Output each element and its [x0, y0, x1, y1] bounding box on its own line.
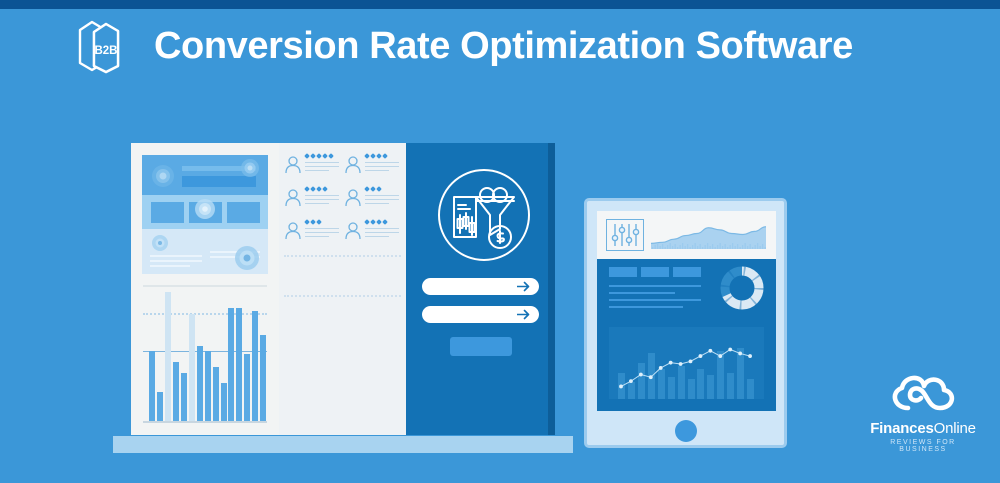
text-line — [609, 299, 701, 301]
text-line — [609, 285, 701, 287]
avatar-icon — [344, 221, 362, 240]
review-item — [284, 186, 343, 211]
dashboard-illustration — [131, 143, 555, 435]
panel-header-block — [142, 155, 268, 195]
bar — [236, 308, 242, 421]
financesonline-tagline: REVIEWS FOR BUSINESS — [868, 439, 978, 453]
dashboard-middle-panel — [279, 143, 406, 435]
card-row — [142, 195, 268, 229]
bar — [260, 335, 266, 421]
divider — [284, 255, 401, 257]
avatar-icon — [344, 155, 362, 174]
text-line — [305, 232, 339, 233]
dashboard-left-panel — [131, 143, 279, 435]
tablet-top-section — [597, 211, 776, 259]
cta-button-1[interactable] — [422, 278, 539, 295]
text-line — [365, 162, 399, 163]
dashboard-right-panel — [406, 143, 555, 435]
chart-dotted-gridline — [143, 313, 267, 315]
bar — [221, 383, 227, 421]
tablet-bottom-section — [597, 259, 776, 411]
banner-canvas: B2B Conversion Rate Optimization Softwar… — [0, 0, 1000, 483]
avatar-icon — [284, 188, 302, 207]
card-1 — [151, 202, 184, 223]
star-icon — [316, 153, 322, 159]
text-line — [365, 228, 399, 229]
trend-line — [621, 349, 750, 386]
arrow-right-icon — [517, 281, 531, 292]
star-icon — [364, 153, 370, 159]
bar — [149, 351, 155, 421]
star-rating — [365, 220, 387, 224]
text-line — [365, 166, 399, 167]
text-line — [365, 236, 389, 237]
text-line — [150, 265, 190, 267]
avatar-icon — [284, 155, 302, 174]
financesonline-name: FinancesOnline — [868, 420, 978, 437]
tablet-screen — [597, 211, 776, 411]
bar — [228, 308, 234, 421]
bar — [157, 392, 163, 421]
star-icon — [322, 153, 328, 159]
star-icon — [310, 153, 316, 159]
text-line — [305, 236, 329, 237]
books-icon: B2B — [72, 16, 134, 76]
secondary-button[interactable] — [450, 337, 512, 356]
chip-1 — [609, 267, 637, 277]
target-ring-icon — [150, 163, 176, 189]
bullet-ring-icon — [151, 234, 169, 252]
bar — [197, 346, 203, 421]
star-icon — [364, 219, 370, 225]
star-icon — [370, 219, 376, 225]
star-rating — [305, 187, 327, 191]
text-line — [365, 203, 389, 204]
financesonline-logo: FinancesOnline REVIEWS FOR BUSINESS — [868, 368, 978, 453]
panel-right-rail — [548, 143, 555, 435]
home-button[interactable] — [675, 420, 697, 442]
text-line — [365, 195, 399, 196]
target-ring-icon-small — [240, 158, 260, 178]
text-line — [365, 232, 399, 233]
star-icon — [370, 153, 376, 159]
left-bar-chart — [143, 285, 267, 423]
star-icon — [310, 219, 316, 225]
chip-2 — [641, 267, 669, 277]
combo-line-series — [609, 327, 764, 399]
star-rating — [365, 187, 381, 191]
logo-b2b-text: B2B — [94, 45, 117, 57]
cloud-infinity-icon — [884, 368, 962, 416]
dashboard-base-stand — [113, 436, 573, 453]
banner-header: B2B Conversion Rate Optimization Softwar… — [72, 16, 853, 76]
star-rating — [365, 154, 387, 158]
star-icon — [304, 186, 310, 192]
star-icon — [322, 186, 328, 192]
target-ring-icon-card — [194, 198, 216, 220]
top-stripe — [0, 0, 1000, 9]
text-line — [150, 255, 202, 257]
text-placeholder-block — [142, 229, 268, 274]
text-line — [305, 162, 339, 163]
star-icon — [304, 219, 310, 225]
tablet-donut-chart — [719, 265, 765, 311]
chart-axis — [143, 421, 267, 423]
star-icon — [382, 153, 388, 159]
bar — [213, 367, 219, 421]
bar — [189, 314, 195, 421]
review-item — [284, 219, 343, 244]
equalizer-sliders-icon — [606, 219, 644, 251]
review-item — [344, 186, 403, 211]
star-icon — [376, 153, 382, 159]
fo-name-bold: Finances — [870, 420, 933, 437]
star-icon — [382, 219, 388, 225]
bar — [173, 362, 179, 421]
star-icon — [310, 186, 316, 192]
text-line — [305, 170, 329, 171]
star-icon — [376, 219, 382, 225]
star-icon — [364, 186, 370, 192]
star-icon — [370, 186, 376, 192]
text-line — [305, 195, 339, 196]
tablet-area-chart — [651, 219, 766, 251]
star-icon — [316, 186, 322, 192]
chip-3 — [673, 267, 701, 277]
text-line — [305, 166, 339, 167]
bar — [252, 311, 258, 421]
bar — [244, 354, 250, 421]
star-icon — [328, 153, 334, 159]
review-item — [344, 219, 403, 244]
avatar-icon — [344, 188, 362, 207]
divider — [284, 295, 401, 297]
cta-button-2[interactable] — [422, 306, 539, 323]
star-icon — [304, 153, 310, 159]
star-icon — [376, 186, 382, 192]
review-item — [344, 153, 403, 178]
bullet-ring-icon-large — [234, 245, 260, 271]
bar — [165, 292, 171, 421]
bar — [205, 351, 211, 421]
text-line — [365, 199, 399, 200]
chart-top-rule — [143, 285, 267, 287]
text-line — [365, 170, 389, 171]
card-3 — [227, 202, 260, 223]
conversion-funnel-money-icon — [438, 169, 530, 261]
text-line — [305, 203, 329, 204]
text-line — [305, 228, 339, 229]
text-line — [305, 199, 339, 200]
arrow-right-icon — [517, 309, 531, 320]
text-line — [609, 292, 675, 294]
text-line — [150, 260, 202, 262]
review-item — [284, 153, 343, 178]
star-rating — [305, 154, 333, 158]
star-icon — [316, 219, 322, 225]
bar — [181, 373, 187, 421]
tablet-combo-chart — [609, 327, 764, 399]
tablet-device — [584, 198, 787, 448]
star-rating — [305, 220, 321, 224]
page-title: Conversion Rate Optimization Software — [154, 27, 853, 65]
fo-name-light: Online — [934, 420, 976, 437]
avatar-icon — [284, 221, 302, 240]
text-line — [609, 306, 683, 308]
